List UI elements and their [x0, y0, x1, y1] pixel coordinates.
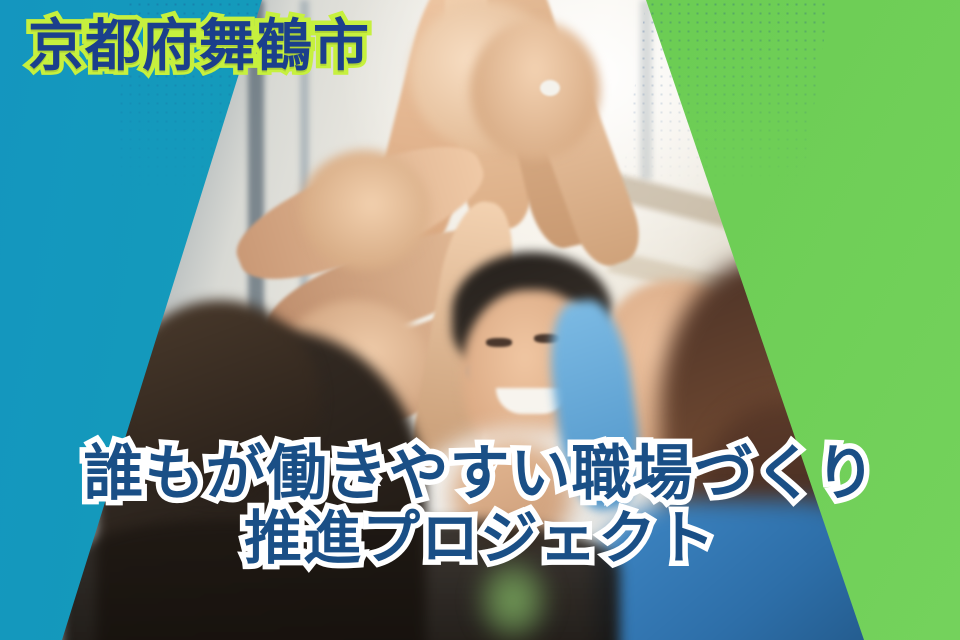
- main-message-block: 誰もが働きやすい職場づくり 推進プロジェクト: [0, 440, 960, 572]
- hand-left-1: [300, 150, 430, 270]
- page-title: 京都府舞鶴市: [28, 16, 370, 75]
- main-message-line-2: 推進プロジェクト: [0, 507, 960, 572]
- banner-root: 京都府舞鶴市 誰もが働きやすい職場づくり 推進プロジェクト: [0, 0, 960, 640]
- ring-highlight: [540, 80, 560, 96]
- man-eye-left: [486, 338, 512, 347]
- headline-block: 京都府舞鶴市: [28, 16, 370, 75]
- light-bokeh-right: [780, 110, 900, 230]
- window-frame-vertical-3: [640, 0, 652, 180]
- main-message-line-1: 誰もが働きやすい職場づくり: [0, 440, 960, 507]
- hand-cluster-2: [470, 20, 600, 160]
